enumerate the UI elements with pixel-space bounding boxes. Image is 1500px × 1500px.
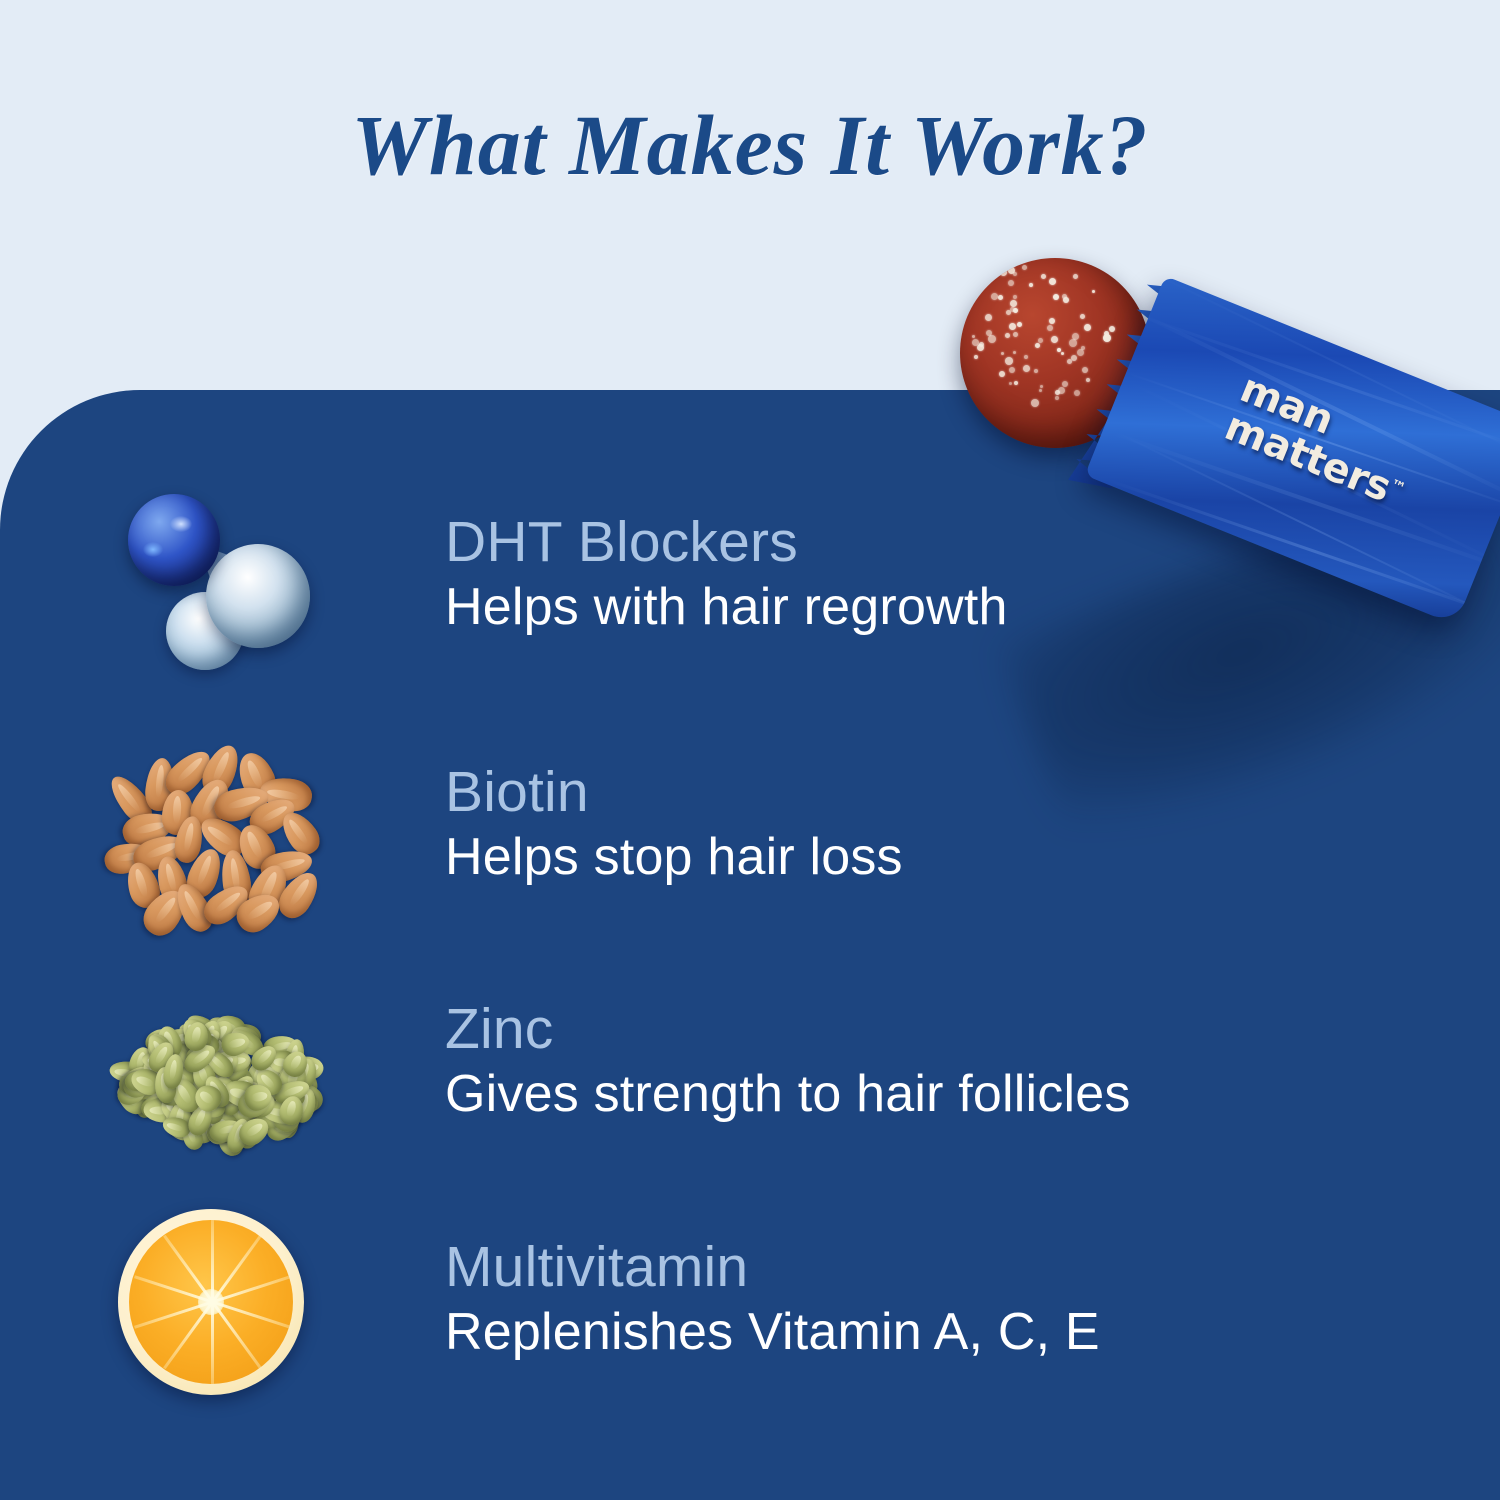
ingredient-text: Zinc Gives strength to hair follicles (350, 999, 1131, 1126)
ingredient-description: Helps stop hair loss (445, 827, 903, 888)
sugar-crystal (1082, 367, 1088, 373)
ingredient-name: Zinc (445, 999, 1131, 1061)
sugar-crystal (1055, 396, 1059, 400)
sugar-crystal (1067, 359, 1072, 364)
ingredient-name: DHT Blockers (445, 512, 1008, 574)
sugar-crystal (1049, 278, 1056, 285)
sugar-crystal (988, 335, 996, 343)
ingredient-row-multivitamin: Multivitamin Replenishes Vitamin A, C, E (100, 1205, 1280, 1395)
sugar-crystal (1041, 274, 1046, 279)
sugar-crystal (972, 335, 975, 338)
sugar-crystal (991, 293, 998, 300)
orange-flesh (129, 1220, 293, 1384)
sugar-crystal (1047, 325, 1053, 331)
sugar-crystal (1010, 300, 1017, 307)
sugar-crystal (1010, 307, 1015, 312)
orange-segment-divider (212, 1275, 291, 1303)
sugar-crystal (977, 344, 984, 351)
sugar-crystal (1023, 365, 1030, 372)
sugar-crystal (1084, 324, 1091, 331)
sugar-crystal (1005, 357, 1013, 365)
sugar-crystal (1040, 385, 1043, 388)
sugar-crystal (1092, 290, 1095, 293)
sugar-crystal (985, 314, 992, 321)
sugar-crystal (1073, 274, 1078, 279)
sugar-crystal (1069, 339, 1077, 347)
sugar-crystal (1053, 294, 1059, 300)
sugar-crystal (1013, 295, 1017, 299)
ingredient-description: Replenishes Vitamin A, C, E (445, 1302, 1100, 1363)
sugar-crystal (1008, 280, 1014, 286)
sugar-crystal (1049, 318, 1055, 324)
sugar-crystal (1061, 352, 1064, 355)
sugar-crystal (974, 355, 978, 359)
sugar-crystal (1024, 355, 1028, 359)
orange-segment-divider (211, 1220, 214, 1302)
ingredient-name: Biotin (445, 762, 903, 824)
sugar-crystal (1074, 390, 1080, 396)
sugar-crystal (1013, 332, 1018, 337)
molecule-atom-blue (128, 494, 220, 586)
sugar-crystal (1013, 272, 1017, 276)
sugar-crystal (1001, 352, 1004, 355)
sugar-crystal (1031, 399, 1039, 407)
ingredient-row-biotin: Biotin Helps stop hair loss (100, 730, 1280, 920)
sugar-crystal (1080, 314, 1085, 319)
infographic-canvas: What Makes It Work? DHT Blockers Helps w… (0, 0, 1500, 1500)
sugar-crystal (999, 371, 1005, 377)
sugar-crystal (1022, 265, 1027, 270)
ingredient-description: Helps with hair regrowth (445, 577, 1008, 638)
ingredient-text: Biotin Helps stop hair loss (350, 762, 903, 889)
sugar-crystal (1038, 338, 1043, 343)
molecule-icon (100, 480, 350, 670)
sugar-crystal (1009, 367, 1015, 373)
sugar-crystal (1009, 323, 1016, 330)
sugar-crystal (1058, 387, 1065, 394)
sugar-crystal (1051, 336, 1058, 343)
sugar-crystal (1062, 381, 1068, 387)
sugar-crystal (1077, 349, 1084, 356)
sugar-crystal (998, 295, 1003, 300)
molecule-atom-large (206, 544, 310, 648)
sugar-crystal (1013, 351, 1016, 354)
sugar-crystal (1009, 382, 1012, 385)
ingredient-description: Gives strength to hair follicles (445, 1064, 1131, 1125)
almonds-icon (100, 730, 350, 920)
sugar-crystal (1029, 283, 1033, 287)
orange-segment-divider (211, 1302, 214, 1384)
ingredient-row-zinc: Zinc Gives strength to hair follicles (100, 967, 1280, 1157)
sugar-crystal (1057, 348, 1061, 352)
sugar-crystal (986, 330, 992, 336)
sugar-crystal (1005, 333, 1010, 338)
sugar-crystal (1000, 269, 1007, 276)
sugar-crystal (1014, 381, 1018, 385)
sugar-crystal (1086, 378, 1090, 382)
sugar-crystal (1081, 346, 1085, 350)
pumpkin-seeds-icon (100, 967, 350, 1157)
sugar-crystal (1063, 297, 1069, 303)
ingredient-name: Multivitamin (445, 1237, 1100, 1299)
ingredient-text: DHT Blockers Helps with hair regrowth (350, 512, 1008, 639)
orange-slice-icon (100, 1205, 350, 1395)
sugar-crystal (1017, 322, 1022, 327)
ingredient-text: Multivitamin Replenishes Vitamin A, C, E (350, 1237, 1100, 1364)
sugar-crystal (1109, 326, 1115, 332)
sugar-crystal (1039, 389, 1042, 392)
sugar-crystal (1103, 334, 1111, 342)
sugar-crystal (1034, 369, 1038, 373)
page-title: What Makes It Work? (0, 95, 1500, 195)
product-image: man matters™ (950, 250, 1500, 650)
sugar-crystal (1035, 343, 1040, 348)
